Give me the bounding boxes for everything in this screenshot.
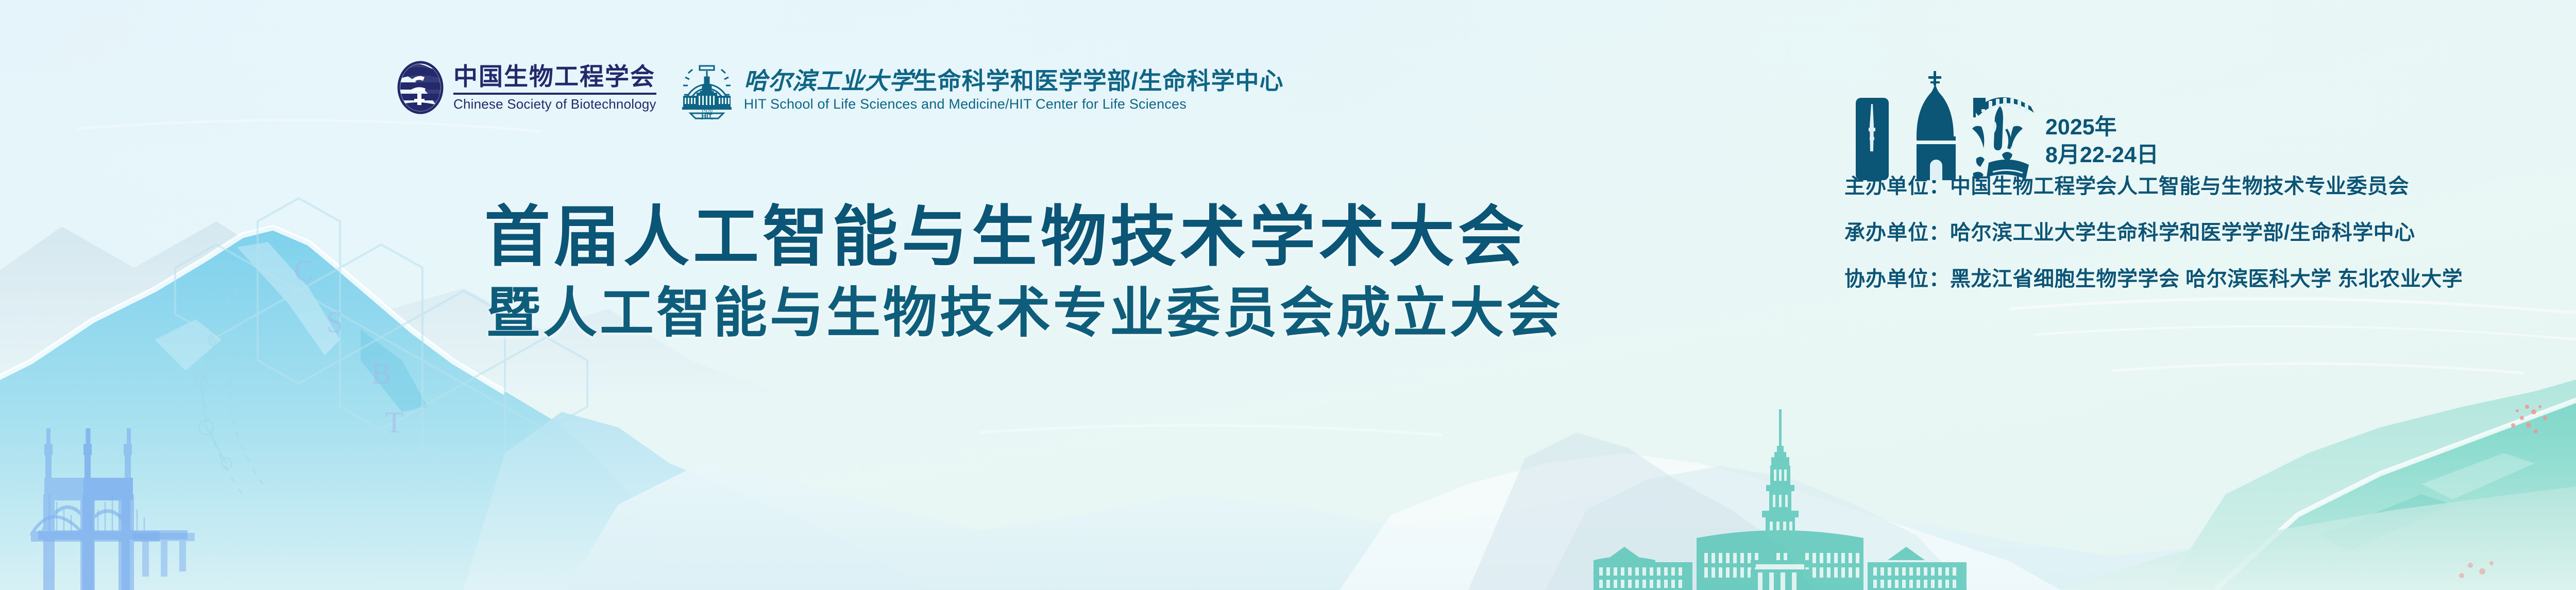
csb-name-en: Chinese Society of Biotechnology — [453, 97, 656, 111]
event-year: 2025年 — [2045, 113, 2159, 141]
logo-hit-school-of-life-sciences: 1920 HIT 哈尔滨工业大学生命科学和医学学部/生命科学中心 HIT Sch… — [679, 61, 1284, 119]
organizer-row: 协办单位：黑龙江省细胞生物学学会 哈尔滨医科大学 东北农业大学 — [1844, 269, 2576, 289]
hit-name-script: 哈尔滨工业大学 — [744, 68, 913, 94]
logo-row: 中国生物工程学会 Chinese Society of Biotechnolog… — [397, 61, 1284, 119]
organizer-value: 黑龙江省细胞生物学学会 哈尔滨医科大学 东北农业大学 — [1950, 268, 2463, 290]
hit-name-cn: 哈尔滨工业大学生命科学和医学学部/生命科学中心 — [744, 68, 1284, 95]
event-date: 2025年 8月22-24日 — [2045, 113, 2159, 169]
skyline-row: 2025年 8月22-24日 — [1834, 46, 2576, 180]
info-panel: 2025年 8月22-24日 主办单位：中国生物工程学会人工智能与生物技术专业委… — [1834, 46, 2576, 315]
event-days: 8月22-24日 — [2045, 141, 2159, 169]
hit-name-en: HIT School of Life Sciences and Medicine… — [744, 97, 1284, 112]
hit-name-dept: 生命科学和医学学部/生命科学中心 — [913, 67, 1284, 94]
banner-content: 中国生物工程学会 Chinese Society of Biotechnolog… — [0, 0, 2576, 590]
csb-divider — [453, 93, 656, 95]
organizer-list: 主办单位：中国生物工程学会人工智能与生物技术专业委员会 承办单位：哈尔滨工业大学… — [1834, 176, 2576, 289]
organizer-label: 承办单位： — [1844, 221, 1950, 244]
csb-name-cn: 中国生物工程学会 — [453, 64, 656, 90]
conference-title: 首届人工智能与生物技术学术大会 — [484, 202, 1563, 273]
hit-emblem-abbr: HIT — [701, 112, 712, 119]
title-block: 首届人工智能与生物技术学术大会 暨人工智能与生物技术专业委员会成立大会 — [484, 202, 1563, 344]
conference-subtitle: 暨人工智能与生物技术专业委员会成立大会 — [484, 283, 1563, 344]
organizer-label: 协办单位： — [1844, 268, 1950, 290]
conference-banner: C S B T — [0, 0, 2576, 590]
organizer-row: 承办单位：哈尔滨工业大学生命科学和医学学部/生命科学中心 — [1844, 222, 2576, 243]
hit-emblem-icon: 1920 HIT — [679, 62, 735, 119]
logo-chinese-society-of-biotechnology: 中国生物工程学会 Chinese Society of Biotechnolog… — [397, 61, 656, 114]
organizer-value: 哈尔滨工业大学生命科学和医学学部/生命科学中心 — [1950, 221, 2415, 244]
csb-emblem-icon — [397, 61, 444, 114]
